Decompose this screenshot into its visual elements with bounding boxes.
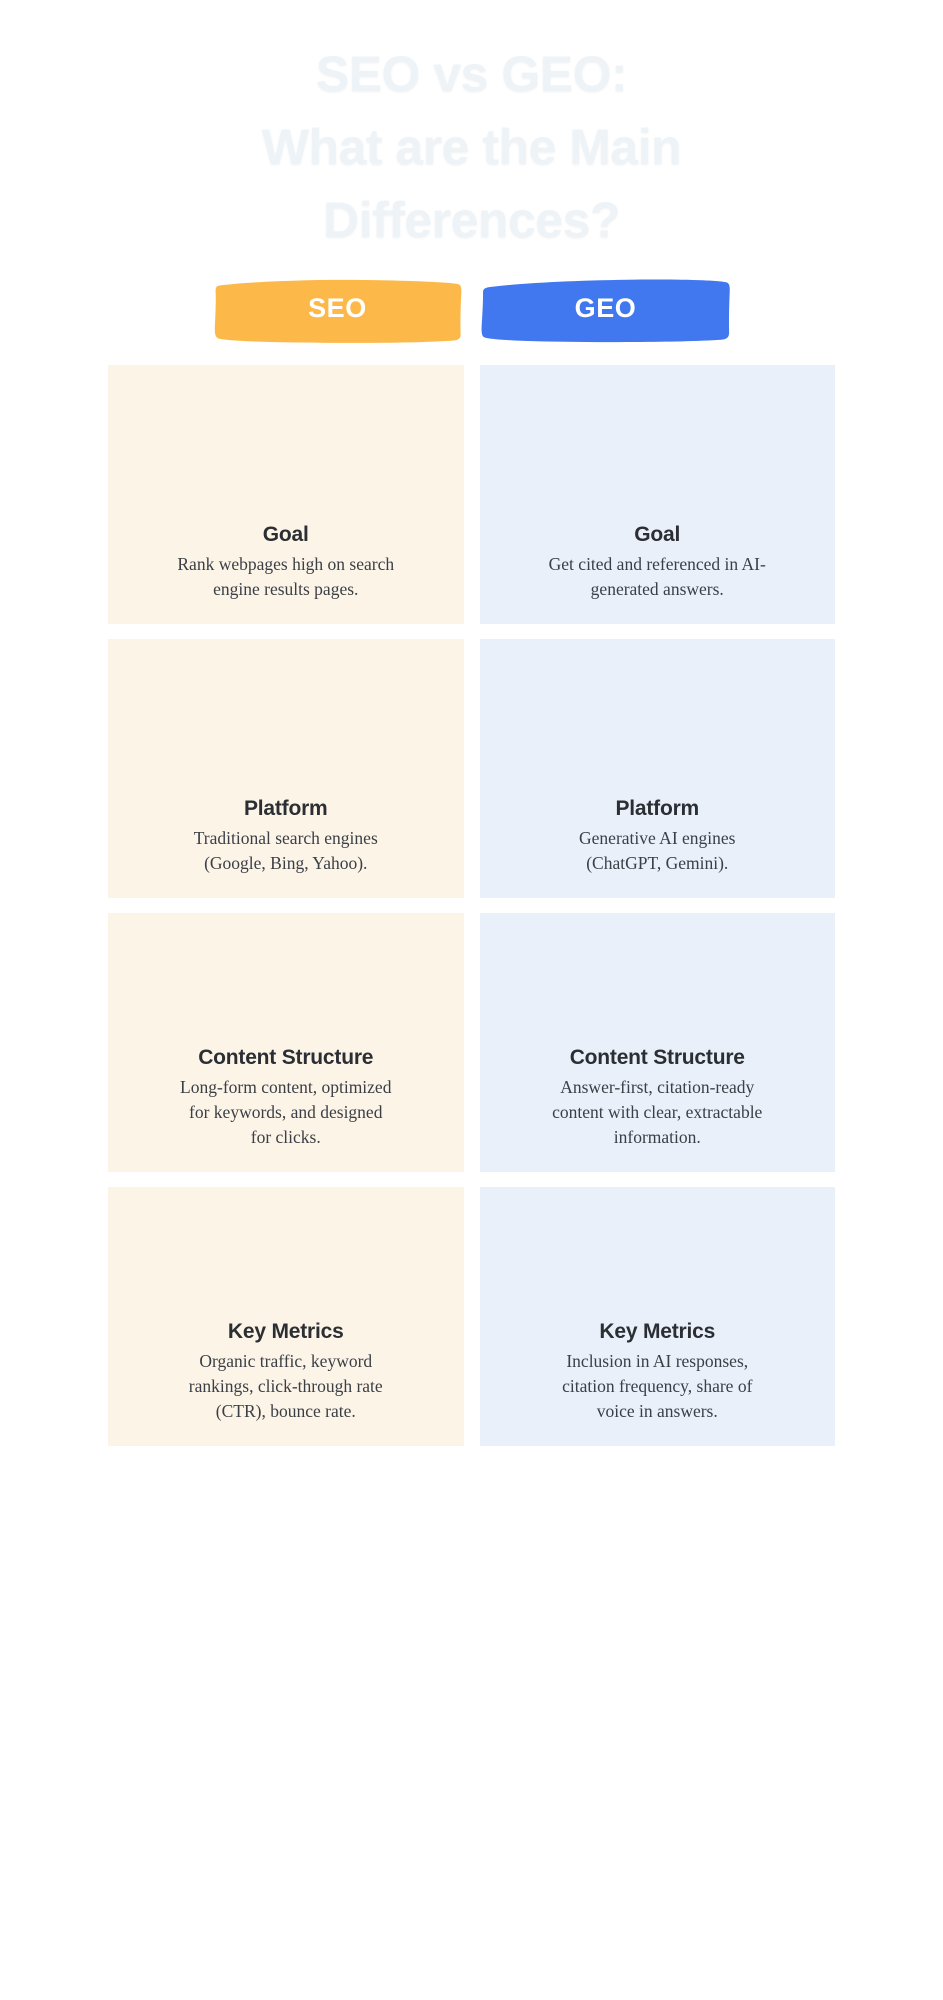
card-heading: Key Metrics [228, 1319, 344, 1345]
card-body: Long-form content, optimized for keyword… [177, 1075, 395, 1150]
card-body: Get cited and referenced in AI-generated… [548, 552, 766, 602]
card-heading: Goal [263, 522, 309, 548]
card-geo-key-metrics: Key Metrics Inclusion in AI responses, c… [480, 1187, 836, 1446]
card-geo-content-structure: Content Structure Answer-first, citation… [480, 913, 836, 1172]
card-geo-goal: Goal Get cited and referenced in AI-gene… [480, 365, 836, 624]
comparison-grid: Goal Rank webpages high on search engine… [0, 365, 943, 1446]
footer-website-url[interactable]: www.seoptimer.com [324, 1902, 619, 1938]
card-body: Generative AI engines (ChatGPT, Gemini). [548, 826, 766, 876]
title-line-2: What are the Main [0, 111, 943, 184]
card-heading: Goal [634, 522, 680, 548]
tab-geo[interactable]: GEO [481, 273, 731, 343]
card-heading: Content Structure [570, 1045, 745, 1071]
card-seo-goal: Goal Rank webpages high on search engine… [108, 365, 464, 624]
card-seo-content-structure: Content Structure Long-form content, opt… [108, 913, 464, 1172]
card-seo-platform: Platform Traditional search engines (Goo… [108, 639, 464, 898]
title-line-1: SEO vs GEO: [0, 38, 943, 111]
tab-seo[interactable]: SEO [213, 273, 463, 343]
footer: www.seoptimer.com [0, 1840, 943, 2000]
card-body: Answer-first, citation-ready content wit… [548, 1075, 766, 1150]
card-heading: Key Metrics [599, 1319, 715, 1345]
page-title: SEO vs GEO: What are the Main Difference… [0, 0, 943, 257]
card-body: Inclusion in AI responses, citation freq… [548, 1349, 766, 1424]
tab-geo-label: GEO [575, 293, 637, 324]
card-geo-platform: Platform Generative AI engines (ChatGPT,… [480, 639, 836, 898]
title-line-3: Differences? [0, 184, 943, 257]
comparison-tabs: SEO GEO [0, 273, 943, 343]
card-body: Rank webpages high on search engine resu… [177, 552, 395, 602]
card-body: Organic traffic, keyword rankings, click… [177, 1349, 395, 1424]
card-heading: Platform [244, 796, 328, 822]
tab-seo-label: SEO [308, 293, 367, 324]
card-seo-key-metrics: Key Metrics Organic traffic, keyword ran… [108, 1187, 464, 1446]
card-body: Traditional search engines (Google, Bing… [177, 826, 395, 876]
card-heading: Content Structure [198, 1045, 373, 1071]
card-heading: Platform [615, 796, 699, 822]
